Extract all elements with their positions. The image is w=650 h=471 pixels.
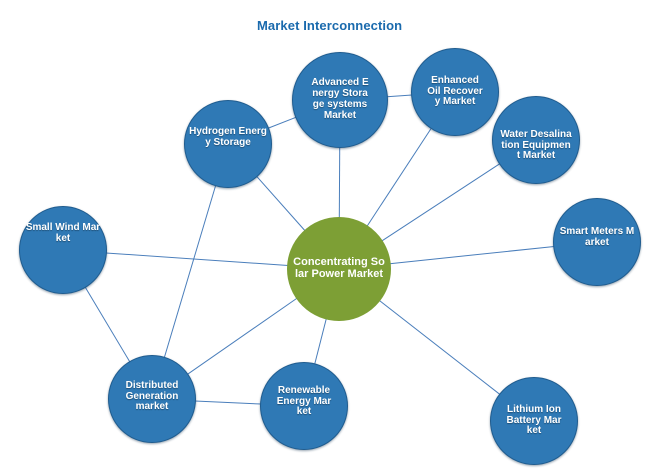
node-renewable-energy[interactable]: Renewable Energy Market: [260, 362, 348, 450]
node-label-distributed-generation: Distributed Generation market: [123, 381, 181, 413]
node-smart-meters[interactable]: Smart Meters Market: [553, 198, 641, 286]
diagram-canvas: Market Interconnection Concentrating Sol…: [0, 0, 650, 471]
node-label-advanced-energy-storage: Advanced Energy Storage systems Market: [311, 78, 369, 121]
node-label-water-desalination: Water Desalination Equipment Market: [500, 130, 572, 162]
node-label-lithium-ion-battery: Lithium Ion Battery Market: [505, 405, 563, 437]
node-enhanced-oil-recovery[interactable]: Enhanced Oil Recovery Market: [411, 48, 499, 136]
node-label-csp: Concentrating Solar Power Market: [293, 257, 385, 281]
node-label-hydrogen-energy-storage: Hydrogen Energy Storage: [187, 127, 269, 149]
page-title: Market Interconnection: [257, 18, 402, 33]
node-advanced-energy-storage[interactable]: Advanced Energy Storage systems Market: [292, 52, 388, 148]
node-small-wind[interactable]: Small Wind Market: [19, 206, 107, 294]
node-water-desalination[interactable]: Water Desalination Equipment Market: [492, 96, 580, 184]
node-lithium-ion-battery[interactable]: Lithium Ion Battery Market: [490, 377, 578, 465]
node-csp[interactable]: Concentrating Solar Power Market: [287, 217, 391, 321]
node-label-small-wind: Small Wind Market: [25, 223, 101, 245]
node-distributed-generation[interactable]: Distributed Generation market: [108, 355, 196, 443]
node-hydrogen-energy-storage[interactable]: Hydrogen Energy Storage: [184, 100, 272, 188]
node-layer: Concentrating Solar Power MarketAdvanced…: [0, 0, 650, 471]
node-label-enhanced-oil-recovery: Enhanced Oil Recovery Market: [427, 76, 483, 108]
node-label-renewable-energy: Renewable Energy Market: [274, 386, 334, 418]
node-label-smart-meters: Smart Meters Market: [557, 227, 637, 249]
